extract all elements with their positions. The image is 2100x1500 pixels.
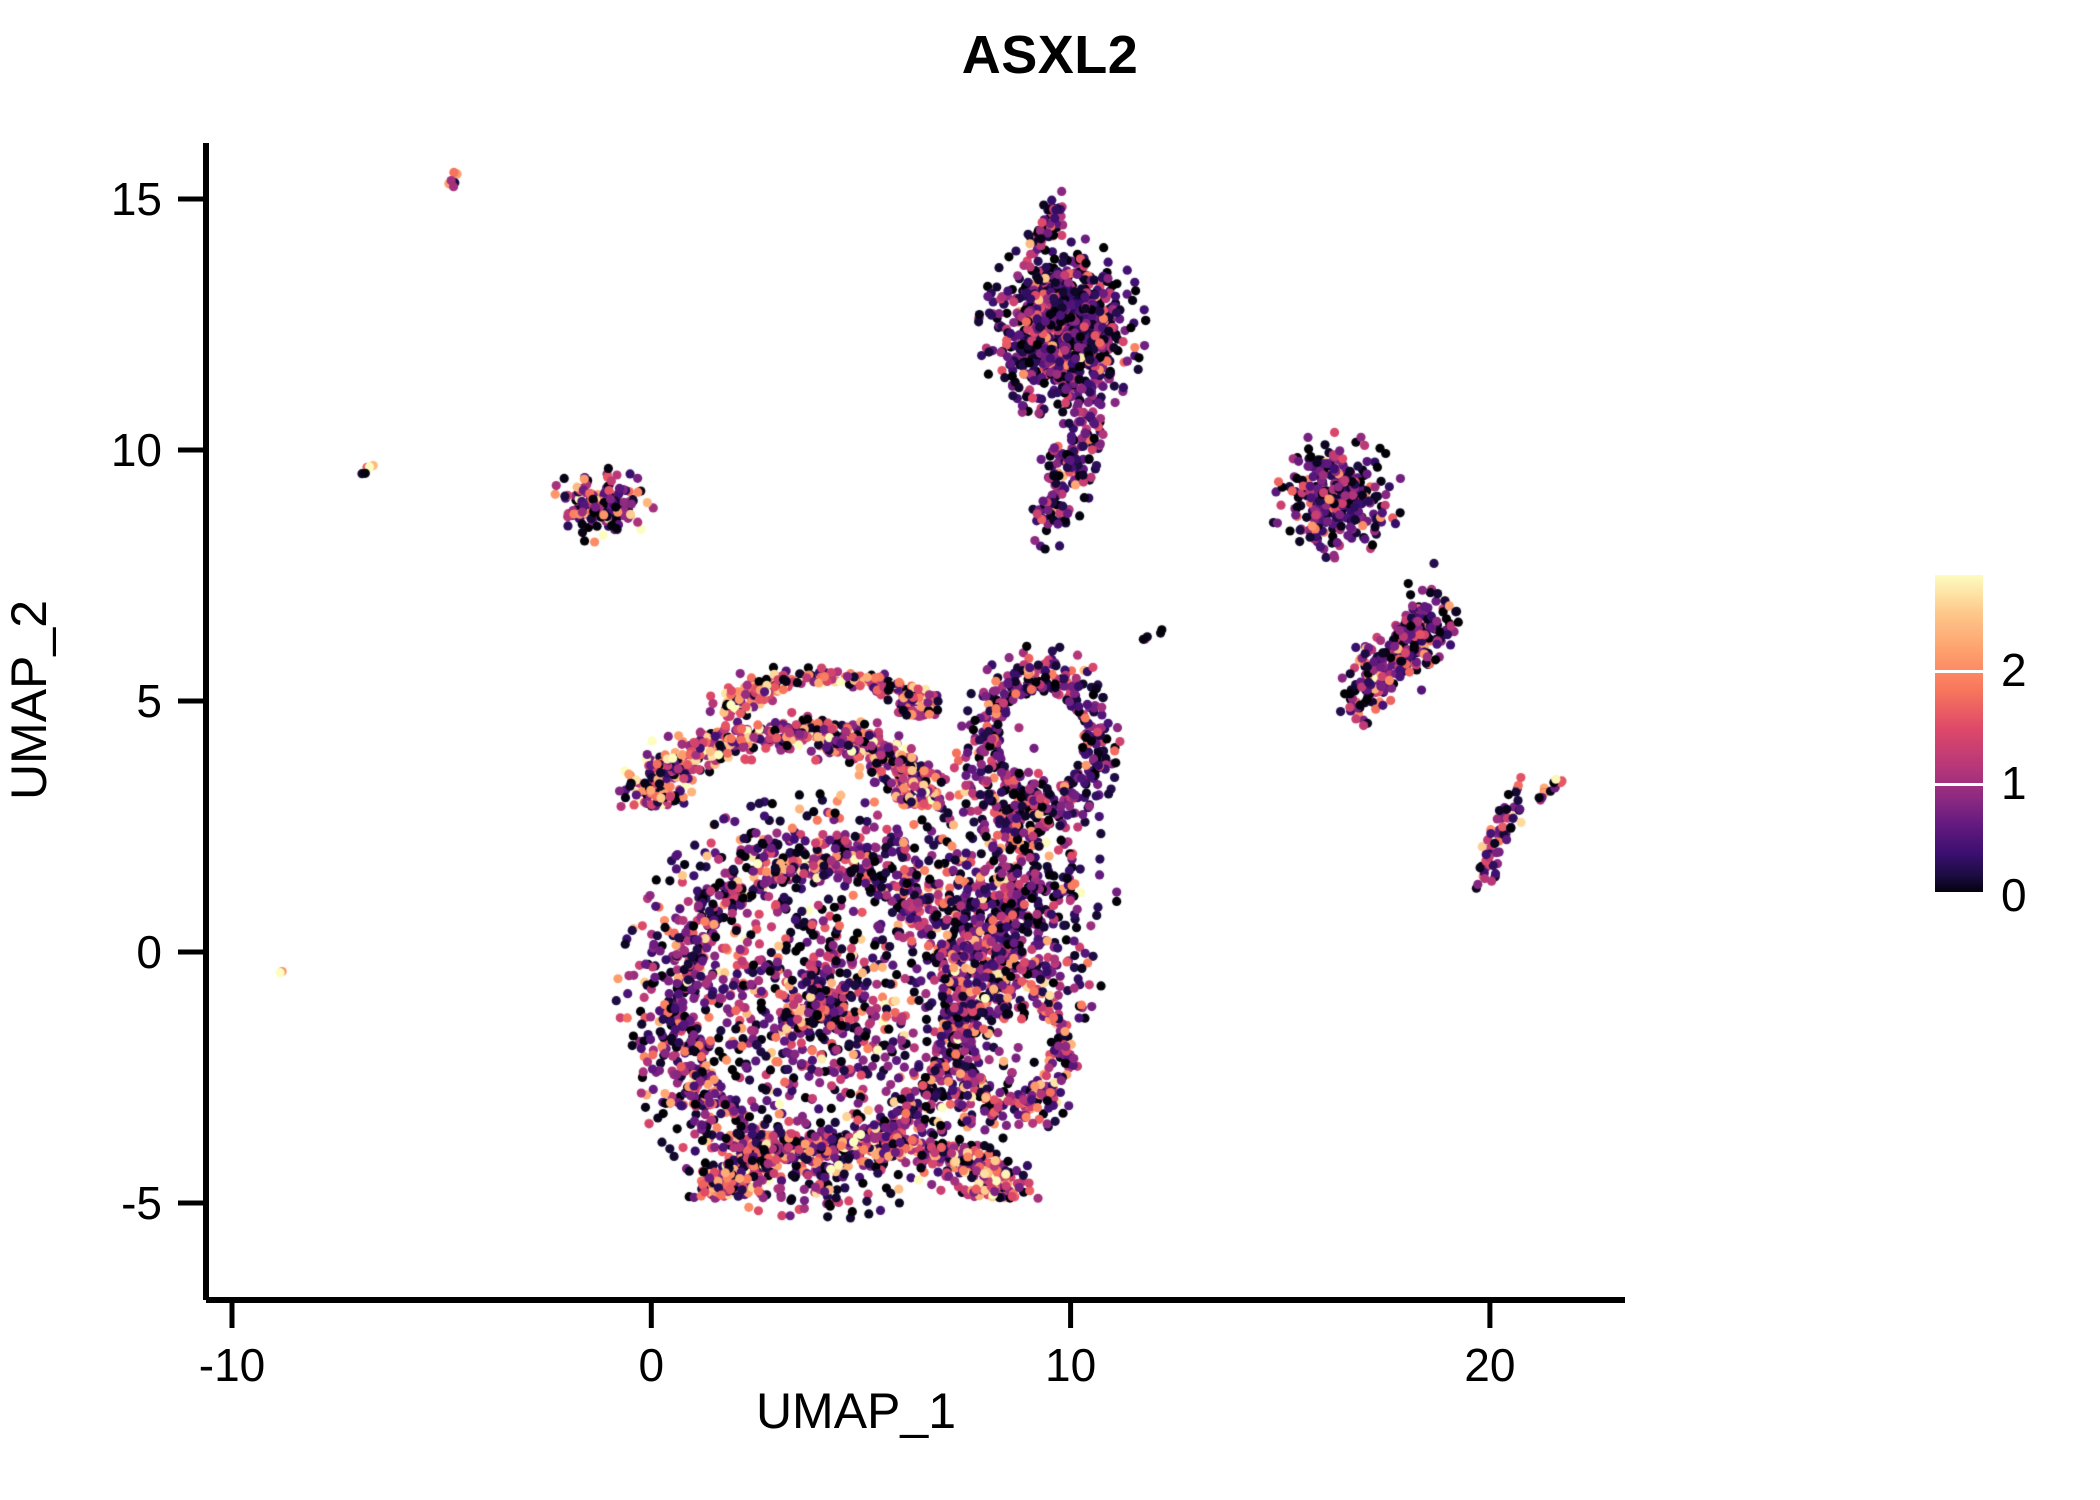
colorbar-tick-mark: [1935, 892, 1983, 895]
scatter-canvas: [0, 0, 2100, 1500]
colorbar-tick-mark: [1935, 783, 1983, 786]
colorbar-tick-label: 1: [2001, 756, 2027, 810]
colorbar-legend: 012: [1935, 575, 2095, 905]
umap-feature-plot-figure: ASXL2 -1001020 -5051015 UMAP_1 UMAP_2 01…: [0, 0, 2100, 1500]
plot-area: -1001020 -5051015: [0, 0, 2100, 1500]
colorbar-tick-mark: [1935, 670, 1983, 673]
colorbar-tick-label: 2: [2001, 643, 2027, 697]
x-axis-title: UMAP_1: [206, 1382, 1506, 1440]
y-axis-tick-label: 15: [0, 172, 162, 226]
colorbar-tick-label: 0: [2001, 868, 2027, 922]
colorbar-gradient: [1935, 575, 1983, 895]
y-axis-title: UMAP_2: [0, 300, 58, 1100]
y-axis-tick-label: -5: [0, 1176, 162, 1230]
